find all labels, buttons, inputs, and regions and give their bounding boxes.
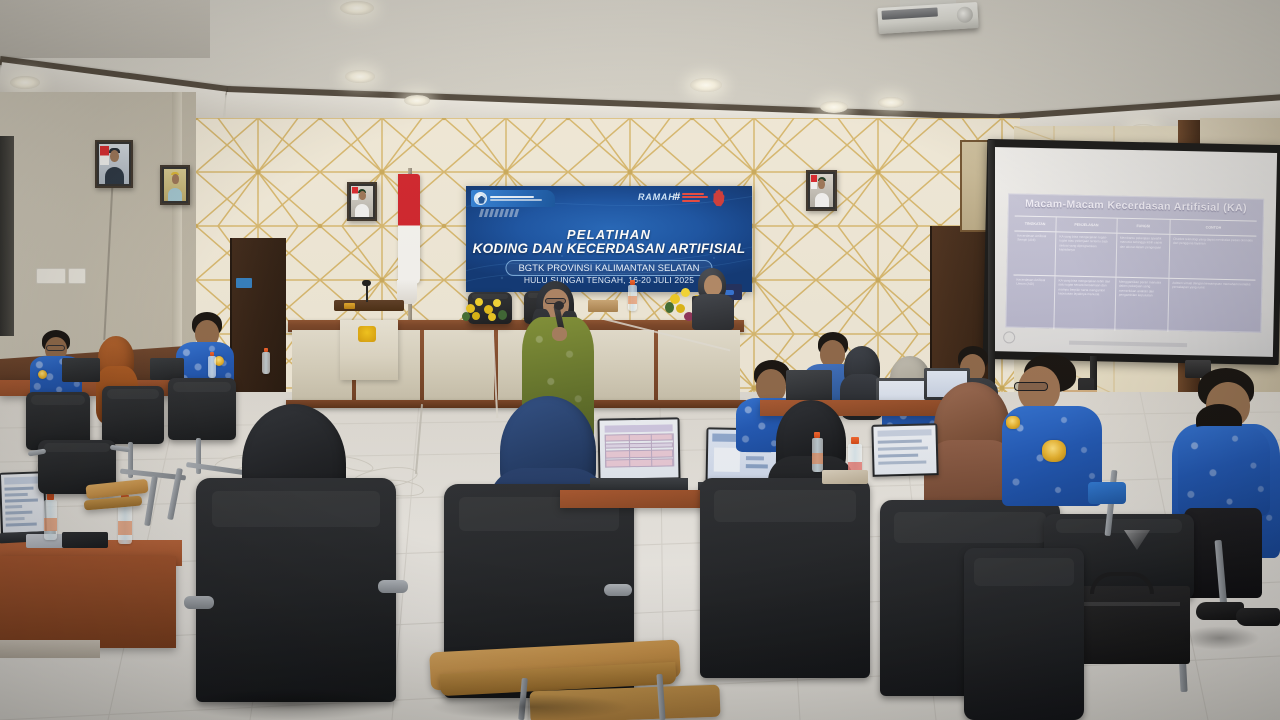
downlight — [404, 95, 430, 106]
portrait-image — [810, 174, 833, 207]
laptop-screen-content — [873, 425, 936, 475]
korpri-emblem — [1006, 416, 1020, 429]
shoe — [1236, 608, 1280, 626]
shadow — [430, 694, 630, 720]
paper-stack — [822, 470, 868, 484]
podium-plaque — [344, 303, 355, 309]
downlight — [690, 78, 722, 92]
botol-air-mineral — [44, 500, 57, 540]
chair-arm — [184, 596, 214, 609]
head-table-person — [690, 268, 736, 328]
banner-title: KODING DAN KECERDASAN ARTIFISIAL — [466, 241, 752, 256]
table-header-cell: PENJELASAN — [1056, 217, 1117, 232]
kursi — [102, 386, 164, 444]
downlight — [345, 70, 375, 83]
downlight — [340, 1, 374, 15]
portrait-president — [95, 140, 133, 188]
table-cell: KA yang bisa mengerjakan tugas-tugas ata… — [1055, 232, 1116, 276]
table-cell: Asisten virtual dengan kemampuan memaham… — [1167, 279, 1255, 334]
door-left — [230, 238, 286, 398]
bag-zip — [1074, 602, 1180, 606]
portrait-official-right — [806, 170, 837, 211]
wall-socket — [68, 268, 86, 284]
banner-stripes — [480, 209, 518, 217]
table-cell: Membantu pekerjaan spesifik manusia sehi… — [1115, 234, 1169, 278]
korpri-emblem — [1042, 440, 1066, 462]
laptop-screen-content — [599, 419, 678, 478]
table-cell: Kecerdasan Artifisial Umum (AGI) — [1012, 276, 1054, 330]
presenter-hand — [552, 327, 567, 341]
table-cell: Chatbot teknologi yang dapat membalas pe… — [1168, 235, 1256, 280]
chair-arm — [378, 580, 408, 593]
flower-arrangement — [462, 292, 508, 326]
projection-surface: Macam-Macam Kecerdasan Artifisial (KA) T… — [989, 147, 1277, 357]
slide-footer — [1069, 341, 1187, 347]
left-wall-recess — [0, 136, 14, 336]
meja-depan-kiri — [0, 556, 176, 648]
kursi — [196, 478, 396, 702]
glasses — [1014, 382, 1048, 391]
banner-organizer: BGTK PROVINSI KALIMANTAN SELATAN — [505, 260, 712, 276]
slide-title: Macam-Macam Kecerdasan Artifisial (KA) — [1008, 197, 1264, 214]
botol-air-mineral — [812, 438, 823, 472]
portrait-vice-president — [160, 165, 190, 205]
hashtag-logo: # — [674, 191, 708, 203]
head-table-face — [704, 275, 722, 296]
table-cell: Kecerdasan Artifisial Sempit (ANI) — [1014, 232, 1056, 276]
desk-divider — [420, 330, 424, 404]
monitor — [786, 370, 832, 402]
banner-eyebrow: PELATIHAN — [466, 227, 752, 242]
slide-watermark-icon — [1003, 331, 1015, 343]
bendera-merah-putih — [398, 174, 420, 284]
table-row: Kecerdasan Artifisial Umum (AGI) KA yang… — [1012, 275, 1255, 334]
mic-head-icon — [362, 280, 371, 286]
meja-modesty-panel — [0, 640, 100, 658]
shadow — [1180, 626, 1260, 650]
projection-screen: Macam-Macam Kecerdasan Artifisial (KA) T… — [983, 139, 1280, 365]
portrait-image — [351, 186, 373, 217]
logo-wordmark — [490, 196, 542, 202]
microphone-head-icon — [554, 301, 564, 310]
botol-air-mineral — [628, 285, 637, 311]
tut-wuri-handayani-logo — [471, 190, 555, 207]
laptop — [62, 358, 100, 382]
slide-content: Macam-Macam Kecerdasan Artifisial (KA) T… — [1005, 193, 1264, 332]
table-cell: KA yang bisa mengerjakan lebih dari satu… — [1053, 276, 1115, 330]
mimbar-emblem — [358, 326, 376, 342]
logo-emblem-icon — [474, 192, 487, 205]
participant-back-left-3 — [176, 312, 236, 388]
training-room-photo: RAMAH # PELATIHAN KODING DAN KECERDASAN … — [0, 0, 1280, 720]
projector-vents — [881, 7, 937, 19]
kursi — [964, 548, 1084, 720]
chair-arm — [604, 584, 632, 596]
botol-air-mineral — [262, 352, 270, 374]
shadow — [180, 688, 400, 720]
table-cell: Menggantikan peran manusia dalam pekerja… — [1114, 278, 1168, 332]
laptop — [597, 417, 680, 480]
door-sign — [236, 278, 252, 288]
kursi — [700, 478, 870, 678]
table-header-cell: FUNGSI — [1116, 219, 1170, 234]
korpri-uniform — [1178, 426, 1270, 516]
downlight — [820, 101, 848, 113]
head-table-torso — [692, 294, 734, 330]
botol-air-mineral — [118, 502, 132, 544]
glasses — [46, 345, 65, 351]
table-row: Kecerdasan Artifisial Sempit (ANI) KA ya… — [1014, 231, 1257, 280]
projector-lens — [956, 6, 973, 23]
tablet-case — [62, 532, 108, 548]
podium-microphone — [366, 284, 368, 302]
hash-symbol: # — [674, 191, 680, 203]
downlight — [10, 76, 40, 89]
ramah-logo: RAMAH — [638, 192, 676, 202]
hash-bars — [682, 193, 708, 202]
wall-switch — [36, 268, 66, 284]
bag-handle — [1090, 572, 1154, 594]
portrait-official-center — [347, 182, 377, 221]
desk-divider — [654, 330, 658, 406]
slide-table: TINGKATAN PENJELASAN FUNGSI CONTOH Kecer… — [1012, 216, 1256, 334]
portrait-image — [99, 144, 129, 184]
botol-air-mineral — [208, 356, 216, 378]
laptop — [150, 358, 184, 380]
floor-item-blue — [1088, 482, 1126, 504]
korpri-emblem — [38, 370, 47, 379]
ceiling-soffit-left — [0, 0, 210, 58]
downlight — [878, 97, 904, 108]
laptop — [871, 423, 938, 477]
portrait-image — [164, 169, 186, 201]
table-header-cell: TINGKATAN — [1014, 217, 1055, 232]
